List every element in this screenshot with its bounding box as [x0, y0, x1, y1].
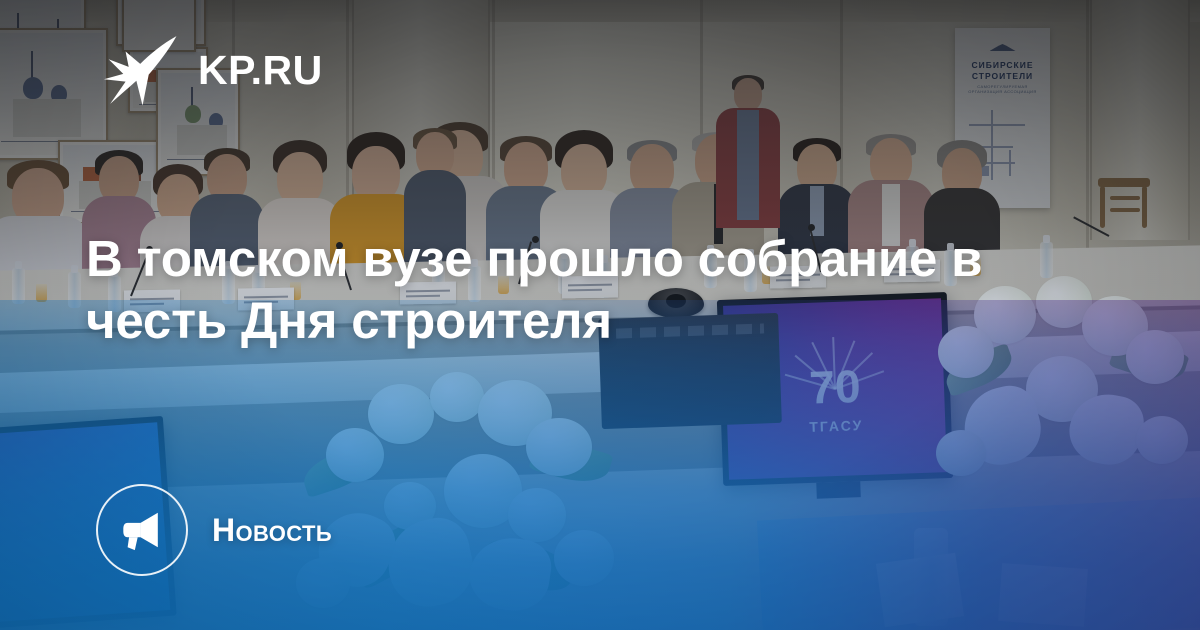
brand-logo[interactable]: KP.RU [102, 33, 323, 107]
status-badge-label: Новость [212, 512, 332, 549]
swallow-bird-icon [102, 33, 180, 107]
status-badge[interactable]: Новость [96, 484, 332, 576]
page-title: В томском вузе прошло собрание в честь Д… [86, 228, 1076, 352]
social-share-card: СИБИРСКИЕ СТРОИТЕЛИ САМОРЕГУЛИРУЕМАЯ ОРГ… [0, 0, 1200, 630]
brand-wordmark: KP.RU [198, 50, 323, 91]
megaphone-icon [119, 507, 165, 553]
megaphone-icon-ring [96, 484, 188, 576]
